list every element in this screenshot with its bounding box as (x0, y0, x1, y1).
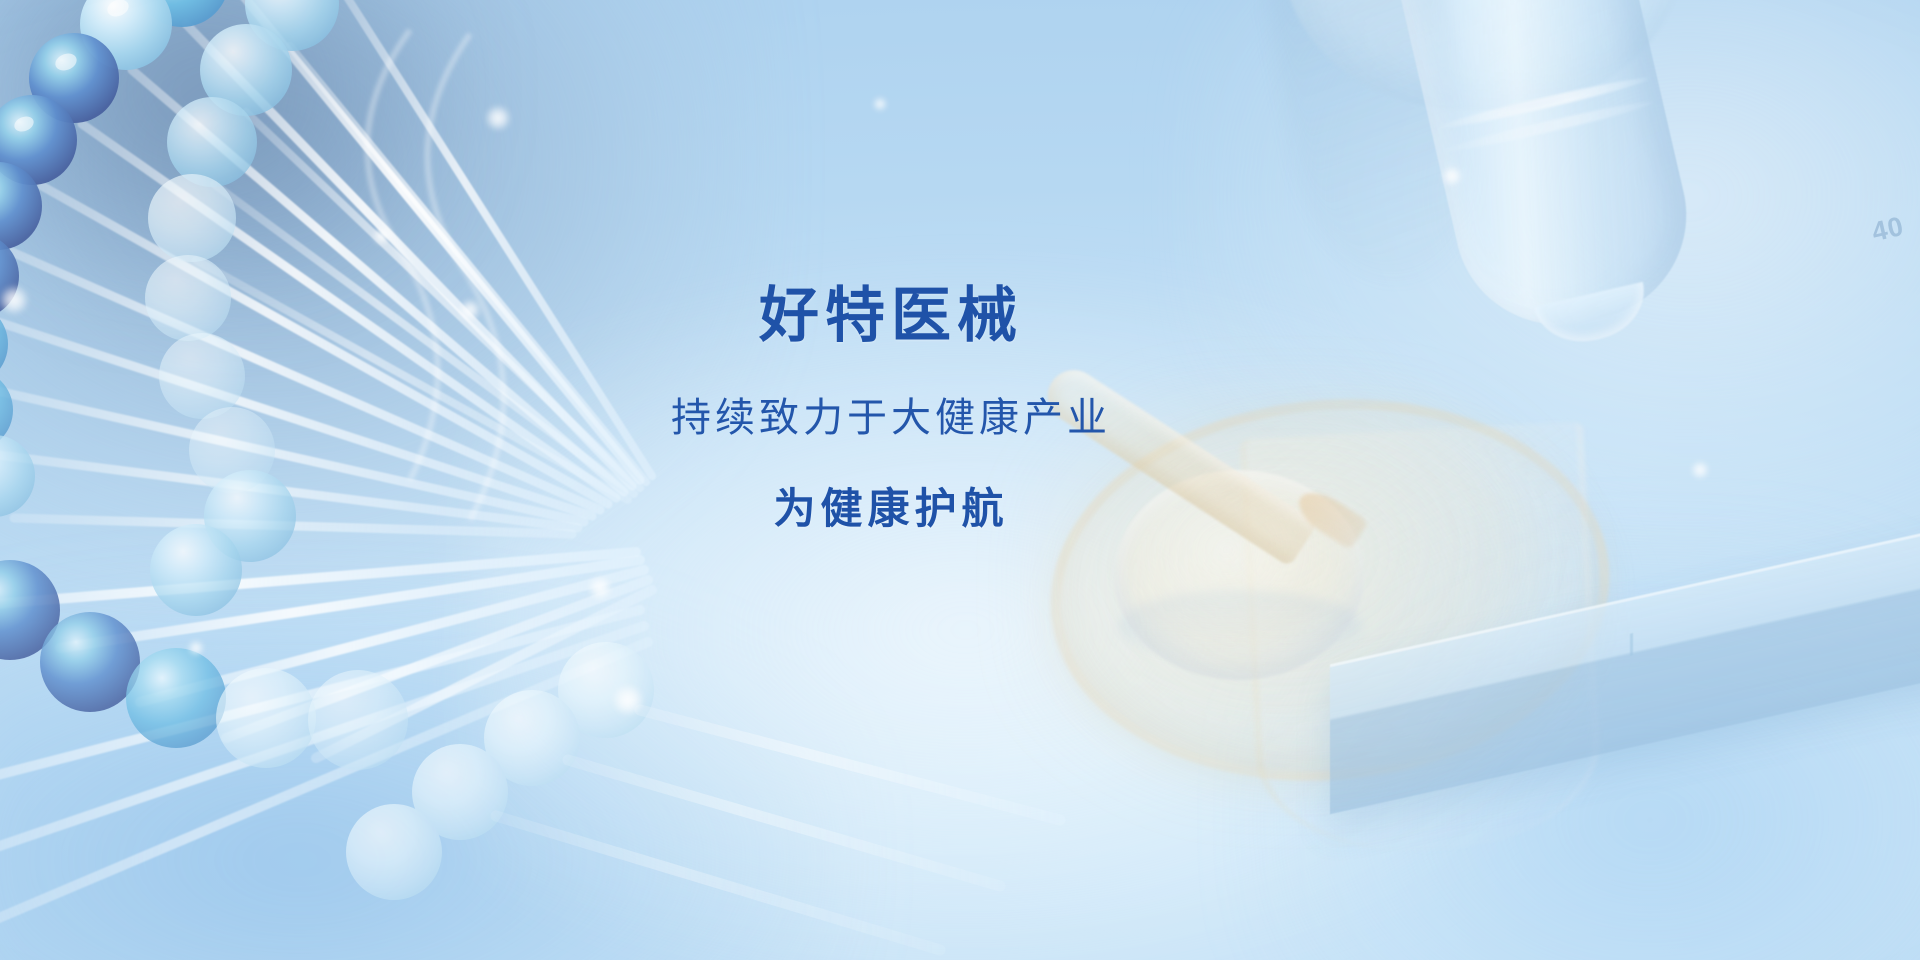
hero-banner: 40 好特医械 持续致力于大健康产业 为健康护航 (0, 0, 1920, 960)
hero-tagline-secondary: 为健康护航 (671, 488, 1111, 530)
hero-tagline-primary: 持续致力于大健康产业 (671, 398, 1111, 438)
company-name-title: 好特医械 (671, 286, 1111, 346)
background-shadow-top-left (0, 0, 460, 300)
background-tint-bottom-right (1260, 540, 1920, 960)
hero-text-block: 好特医械 持续致力于大健康产业 为健康护航 (0, 286, 1920, 530)
